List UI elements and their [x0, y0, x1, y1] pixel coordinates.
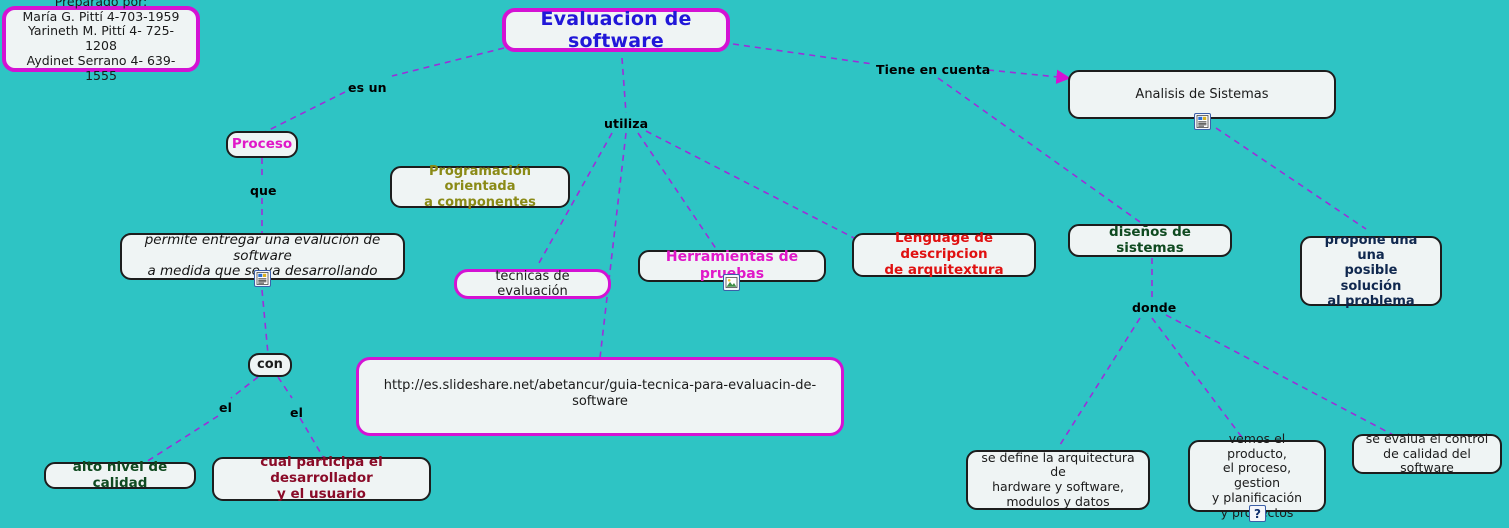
node-alto-nivel-de-calidad[interactable]: alto nivel de calidad [44, 462, 196, 489]
node-se-define-la-arquitectura[interactable]: se define la arquitectura de hardware y … [966, 450, 1150, 510]
node-tecnicas-de-evaluacion[interactable]: tecnicas de evaluación [454, 269, 611, 299]
node-programacion-orientada[interactable]: Programación orientada a componentes [390, 166, 570, 208]
node-analisis-label: Analisis de Sistemas [1135, 87, 1268, 102]
node-url-label: http://es.slideshare.net/abetancur/guia-… [369, 378, 831, 409]
question-mark-glyph: ? [1254, 508, 1261, 520]
node-evalua-label: se evalua el control de calidad del soft… [1364, 432, 1490, 476]
root-node-evaluacion-de-software[interactable]: Evaluacion de software [502, 8, 730, 52]
edge-label-donde: donde [1132, 300, 1176, 315]
node-alto-nivel-label: alto nivel de calidad [56, 460, 184, 492]
node-lenguage-label: Lenguage de descripcion de arquitextura [864, 231, 1024, 279]
edge-label-utiliza: utiliza [604, 116, 648, 131]
node-propone-label: propone una una posible solución al prob… [1312, 233, 1430, 310]
node-url-slideshare[interactable]: http://es.slideshare.net/abetancur/guia-… [356, 357, 844, 436]
edge-label-el-1: el [219, 400, 232, 415]
node-proceso[interactable]: Proceso [226, 131, 298, 158]
node-disenos-label: diseños de sistemas [1080, 225, 1220, 257]
node-cual-participa-label: cual participa el desarrollador y el usu… [224, 455, 419, 503]
image-icon[interactable] [723, 274, 740, 291]
node-con[interactable]: con [248, 353, 292, 377]
edge-label-es-un: es un [348, 80, 387, 95]
credits-node[interactable]: Preparado por: María G. Pittí 4-703-1959… [2, 6, 200, 72]
node-programacion-label: Programación orientada a componentes [402, 164, 558, 210]
node-cual-participa[interactable]: cual participa el desarrollador y el usu… [212, 457, 431, 501]
node-lenguage-de-descripcion[interactable]: Lenguage de descripcion de arquitextura [852, 233, 1036, 277]
node-analisis-de-sistemas[interactable]: Analisis de Sistemas [1068, 70, 1336, 119]
edge-label-que: que [250, 183, 277, 198]
question-icon[interactable]: ? [1249, 505, 1266, 522]
edge-label-el-2: el [290, 405, 303, 420]
node-propone-solucion[interactable]: propone una una posible solución al prob… [1300, 236, 1442, 306]
node-con-label: con [257, 357, 283, 372]
edge-label-tiene-en-cuenta: Tiene en cuenta [876, 62, 990, 77]
note-icon[interactable] [254, 270, 271, 287]
note-icon[interactable] [1194, 113, 1211, 130]
node-vemos-el-producto[interactable]: vemos el producto, el proceso, gestion y… [1188, 440, 1326, 512]
node-proceso-label: Proceso [232, 137, 292, 153]
node-tecnicas-label: tecnicas de evaluación [467, 269, 598, 300]
concept-map-canvas: Preparado por: María G. Pittí 4-703-1959… [0, 0, 1509, 528]
node-se-evalua-el-control[interactable]: se evalua el control de calidad del soft… [1352, 434, 1502, 474]
credits-text: Preparado por: María G. Pittí 4-703-1959… [16, 0, 186, 83]
node-arquitectura-label: se define la arquitectura de hardware y … [978, 451, 1138, 510]
root-node-label: Evaluacion de software [516, 8, 716, 53]
node-disenos-de-sistemas[interactable]: diseños de sistemas [1068, 224, 1232, 257]
